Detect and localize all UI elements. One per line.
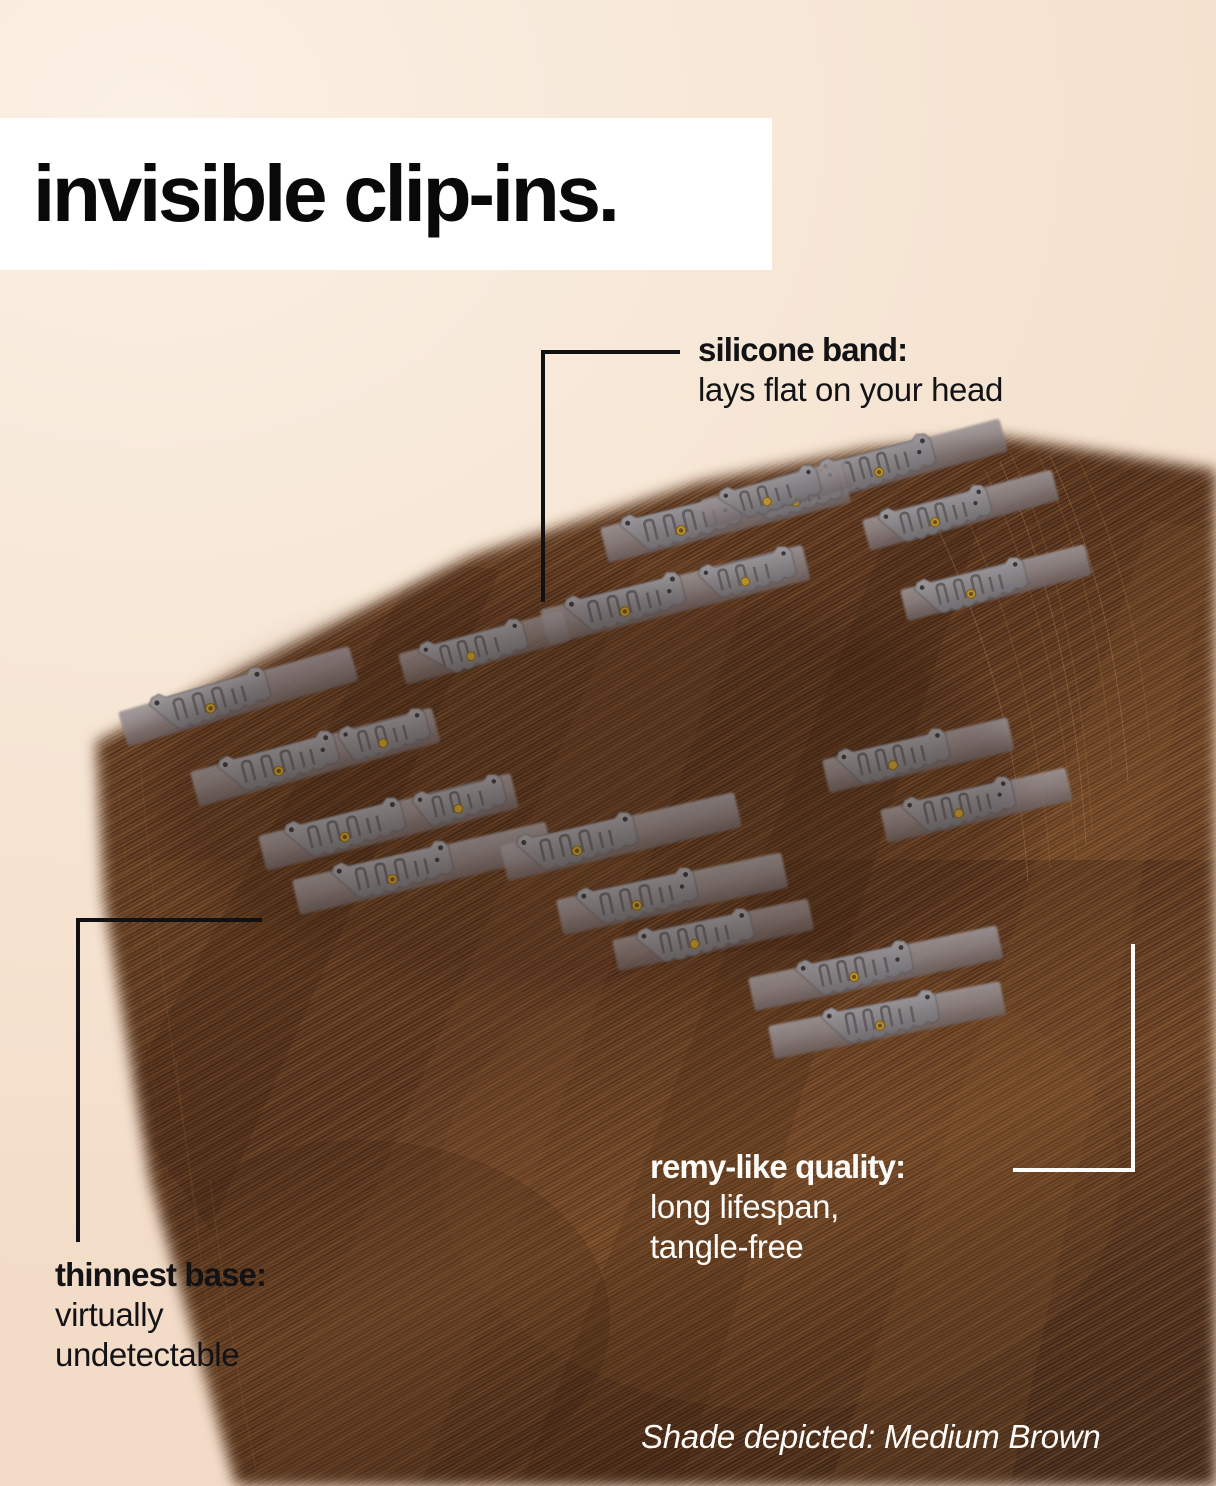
title-band: invisible clip-ins. [0, 118, 772, 270]
callout-heading: thinnest base: [55, 1256, 266, 1295]
callout-remy-like-quality: remy-like quality: long lifespan, tangle… [650, 1148, 905, 1267]
leader-vertical-segment [1131, 944, 1135, 1172]
callout-heading: remy-like quality: [650, 1148, 905, 1187]
cluster-shadow [160, 590, 1020, 990]
callout-line: tangle-free [650, 1227, 905, 1267]
callout-line: undetectable [55, 1335, 266, 1375]
callout-silicone-band: silicone band: lays flat on your head [698, 331, 1003, 410]
callout-line: virtually [55, 1295, 266, 1335]
infographic-canvas: invisible clip-ins. silicone band: lays … [0, 0, 1216, 1486]
callout-heading: silicone band: [698, 331, 1003, 370]
leader-vertical-segment [76, 918, 80, 1242]
callout-line: lays flat on your head [698, 370, 1003, 410]
leader-horizontal-segment [541, 350, 680, 354]
shade-caption: Shade depicted: Medium Brown [641, 1418, 1100, 1456]
callout-thinnest-base: thinnest base: virtually undetectable [55, 1256, 266, 1375]
leader-horizontal-segment [76, 918, 262, 922]
leader-horizontal-segment [1013, 1168, 1135, 1172]
leader-vertical-segment [541, 350, 545, 602]
page-title: invisible clip-ins. [33, 154, 617, 234]
callout-line: long lifespan, [650, 1187, 905, 1227]
